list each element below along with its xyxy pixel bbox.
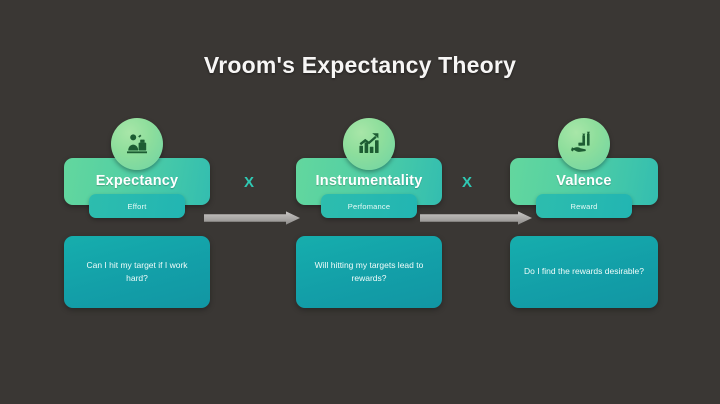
page-title: Vroom's Expectancy Theory [0, 52, 720, 79]
concept-card-label: Expectancy [96, 173, 179, 191]
description-text: Do I find the rewards desirable? [524, 265, 644, 278]
hand-reward-icon [558, 118, 610, 170]
description-text: Will hitting my targets lead to rewards? [309, 259, 429, 285]
concept-card-label: Instrumentality [316, 173, 423, 191]
multiply-operator-2: X [456, 174, 478, 191]
sub-pill-label: Reward [570, 202, 597, 211]
sub-pill-label: Perfomance [348, 202, 390, 211]
sub-pill-performance[interactable]: Perfomance [321, 194, 417, 218]
arrow-instrumentality-to-valence [420, 211, 532, 225]
slide-canvas: Vroom's Expectancy Theory Expectancy Eff… [0, 0, 720, 404]
sub-pill-reward[interactable]: Reward [536, 194, 632, 218]
arrow-expectancy-to-instrumentality [204, 211, 300, 225]
multiply-operator-1: X [238, 174, 260, 191]
concept-card-label: Valence [556, 173, 611, 191]
growth-chart-icon [343, 118, 395, 170]
description-box-instrumentality: Will hitting my targets lead to rewards? [296, 236, 442, 308]
sub-pill-label: Effort [128, 202, 147, 211]
description-text: Can I hit my target if I work hard? [77, 259, 197, 285]
sub-pill-effort[interactable]: Effort [89, 194, 185, 218]
effort-person-icon [111, 118, 163, 170]
description-box-valence: Do I find the rewards desirable? [510, 236, 658, 308]
description-box-expectancy: Can I hit my target if I work hard? [64, 236, 210, 308]
